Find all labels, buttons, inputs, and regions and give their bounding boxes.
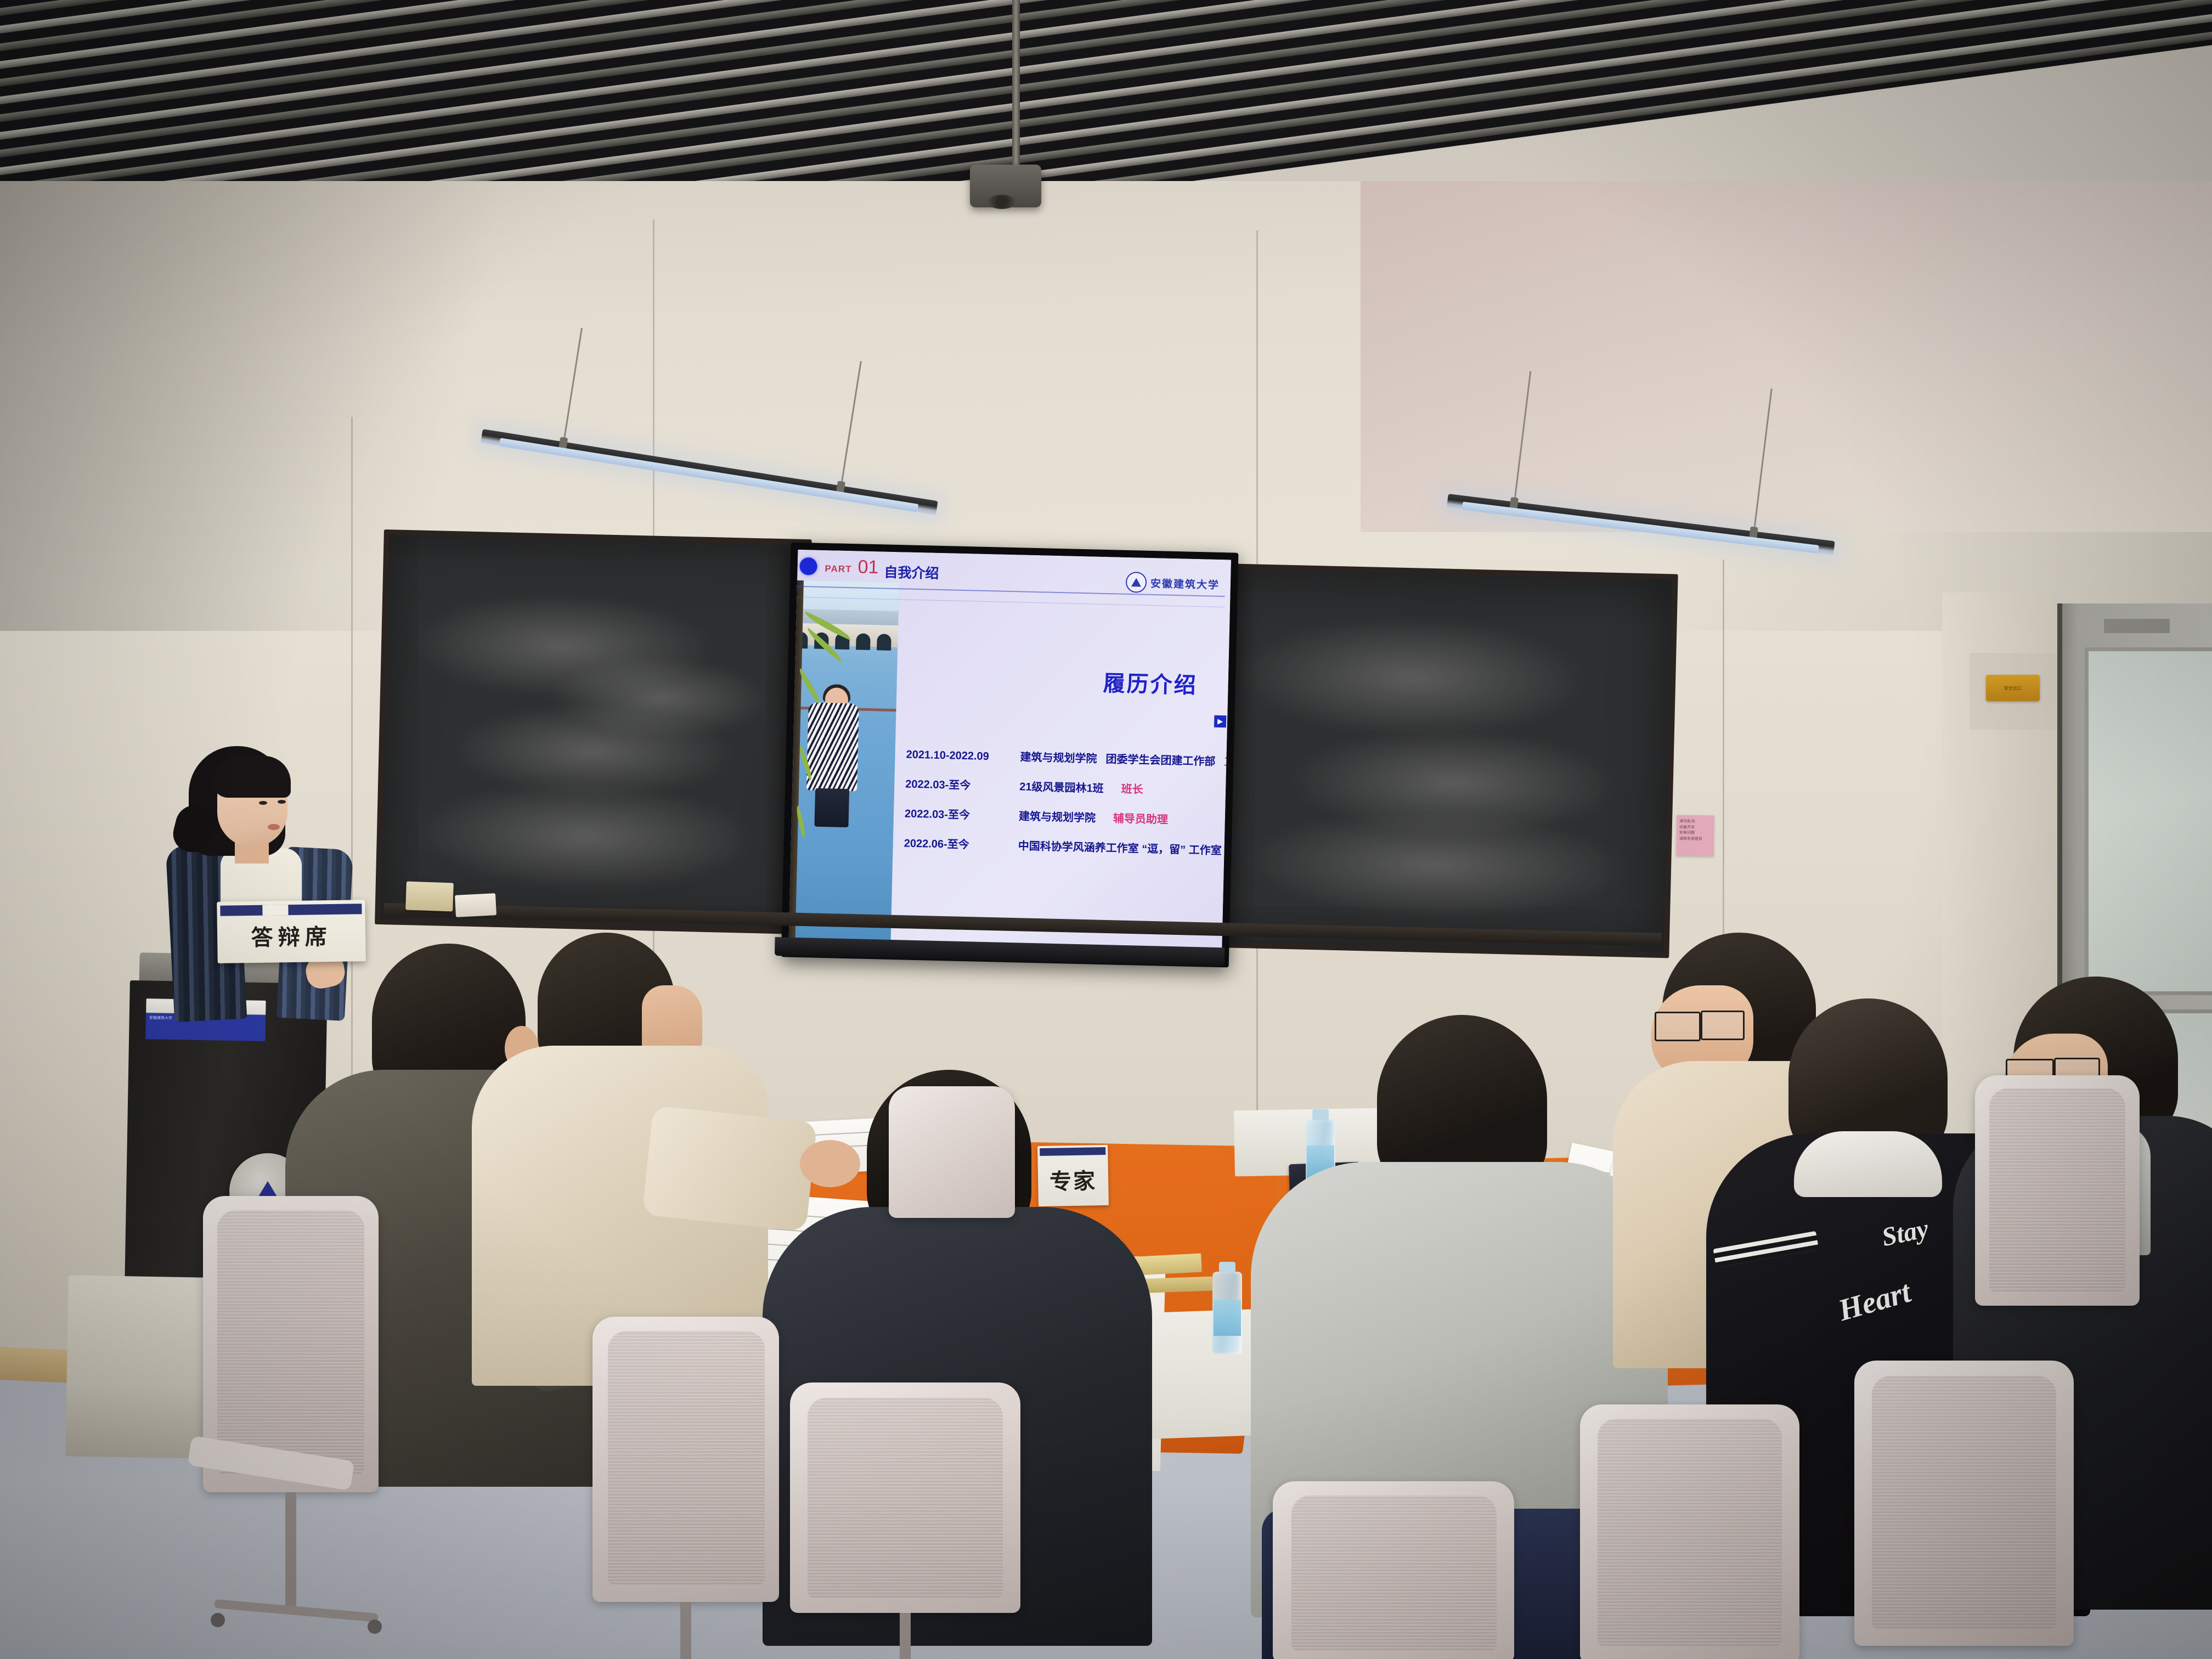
sticky-note-line: 请联系管理员 — [1679, 836, 1711, 842]
sticky-note-line: 如有问题 — [1679, 831, 1711, 837]
slide: PART 01 自我介绍 安徽建筑大学 履历介绍 ▶ — [788, 550, 1231, 960]
collar — [1794, 1131, 1942, 1197]
school-logo: 安徽建筑大学 — [1126, 572, 1220, 595]
sticky-note-line: 请勿乱动 — [1679, 819, 1711, 825]
chalkboard-right — [1203, 563, 1678, 958]
projector-lens-icon — [988, 195, 1016, 209]
resume-dept: 团委学生会团建工作部 — [1105, 750, 1216, 769]
resume-org: 建筑与规划学院 — [1019, 807, 1096, 825]
slide-part-number: 01 — [857, 556, 879, 578]
chalk-eraser[interactable] — [405, 882, 454, 912]
resume-role: 辅导员助理 — [1113, 809, 1169, 826]
resume-org: 中国科协学风涵养工作室 “逗，留” 工作室 — [1018, 837, 1222, 857]
projector-mount-rod — [1012, 0, 1020, 170]
resume-row: 2022.03-至今 建筑与规划学院 辅导员助理 — [905, 805, 1220, 828]
slide-photo — [788, 580, 899, 952]
presenter-bangs — [213, 756, 291, 798]
school-seal-icon — [1126, 572, 1147, 593]
door-header-label — [2104, 619, 2170, 633]
resume-org: 建筑与规划学院 — [1020, 748, 1097, 765]
water-bottle[interactable] — [1212, 1272, 1242, 1354]
presentation-display[interactable]: PART 01 自我介绍 安徽建筑大学 履历介绍 ▶ — [781, 542, 1239, 967]
exit-sign: 安全出口 — [1986, 675, 2040, 701]
resume-date: 2022.03-至今 — [905, 775, 1020, 794]
chalkboard-left — [375, 529, 812, 934]
classroom-scene: 安全出口 — [0, 0, 2212, 1659]
sticky-note-line: 设备开关 — [1679, 825, 1711, 831]
sign-header-bar — [220, 904, 362, 916]
bullet-dot-icon — [799, 557, 817, 575]
slide-part-label: PART — [825, 563, 851, 575]
resume-date: 2021.10-2022.09 — [906, 749, 1020, 764]
presenter-eye — [278, 800, 286, 804]
sticky-note: 请勿乱动设备开关如有问题请联系管理员 — [1676, 815, 1714, 856]
presenter-mouth — [268, 824, 280, 830]
school-logo-text: 安徽建筑大学 — [1150, 575, 1220, 591]
resume-list: 2021.10-2022.09 建筑与规划学院 团委学生会团建工作部 工作人员 … — [904, 746, 1221, 871]
upper-wall-right-panel — [1361, 181, 2212, 532]
slide-heading: 履历介绍 — [1103, 665, 1198, 699]
play-cursor-icon: ▶ — [1214, 715, 1227, 728]
door-glass-panel-upper — [2085, 647, 2212, 995]
slide-section-title: 自我介绍 — [884, 561, 939, 582]
resume-row: 2021.10-2022.09 建筑与规划学院 团委学生会团建工作部 工作人员 — [906, 746, 1221, 769]
chalk-eraser[interactable] — [455, 893, 496, 917]
glasses-icon — [1655, 1012, 1701, 1041]
resume-org: 21级风景园林1班 — [1019, 777, 1104, 795]
resume-date: 2022.03-至今 — [905, 805, 1019, 823]
presenter-eye — [259, 801, 267, 805]
resume-row: 2022.03-至今 21级风景园林1班 班长 — [905, 775, 1221, 799]
resume-date: 2022.06-至今 — [904, 834, 1018, 853]
slide-header: PART 01 自我介绍 安徽建筑大学 — [905, 557, 1223, 594]
photo-tree-trunk — [788, 580, 804, 952]
photo-person — [805, 684, 859, 827]
judge-back-left — [472, 933, 779, 1383]
seal-triangle-icon — [1131, 578, 1141, 586]
resume-row: 2022.06-至今 中国科协学风涵养工作室 “逗，留” 工作室 负责人 — [904, 834, 1219, 857]
resume-role: 班长 — [1121, 780, 1143, 797]
